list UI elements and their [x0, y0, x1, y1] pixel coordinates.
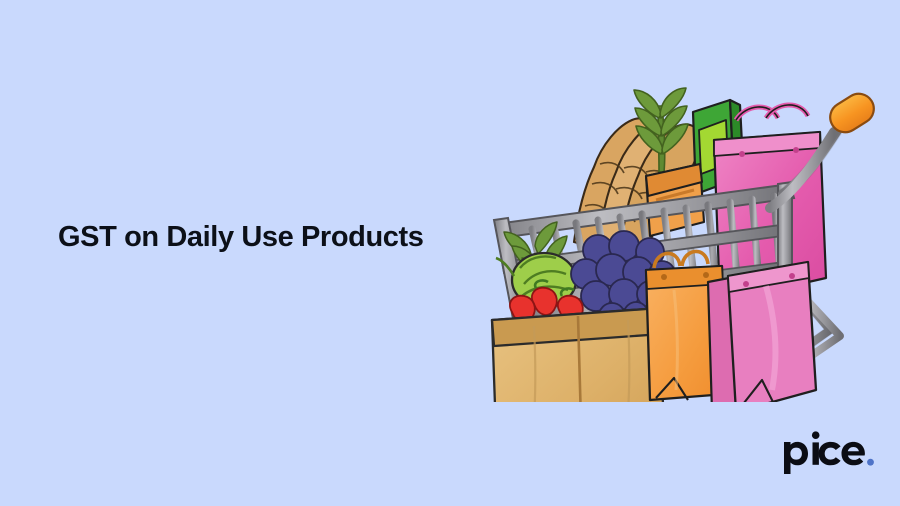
pice-wordmark-text — [784, 431, 865, 474]
shopping-cart-illustration — [478, 72, 898, 402]
banner-root: GST on Daily Use Products — [0, 0, 900, 506]
page-title: GST on Daily Use Products — [58, 222, 423, 254]
pice-logo-dot — [867, 459, 874, 466]
pink-shopping-bag-front — [728, 262, 816, 402]
pice-logo[interactable] — [780, 430, 880, 476]
